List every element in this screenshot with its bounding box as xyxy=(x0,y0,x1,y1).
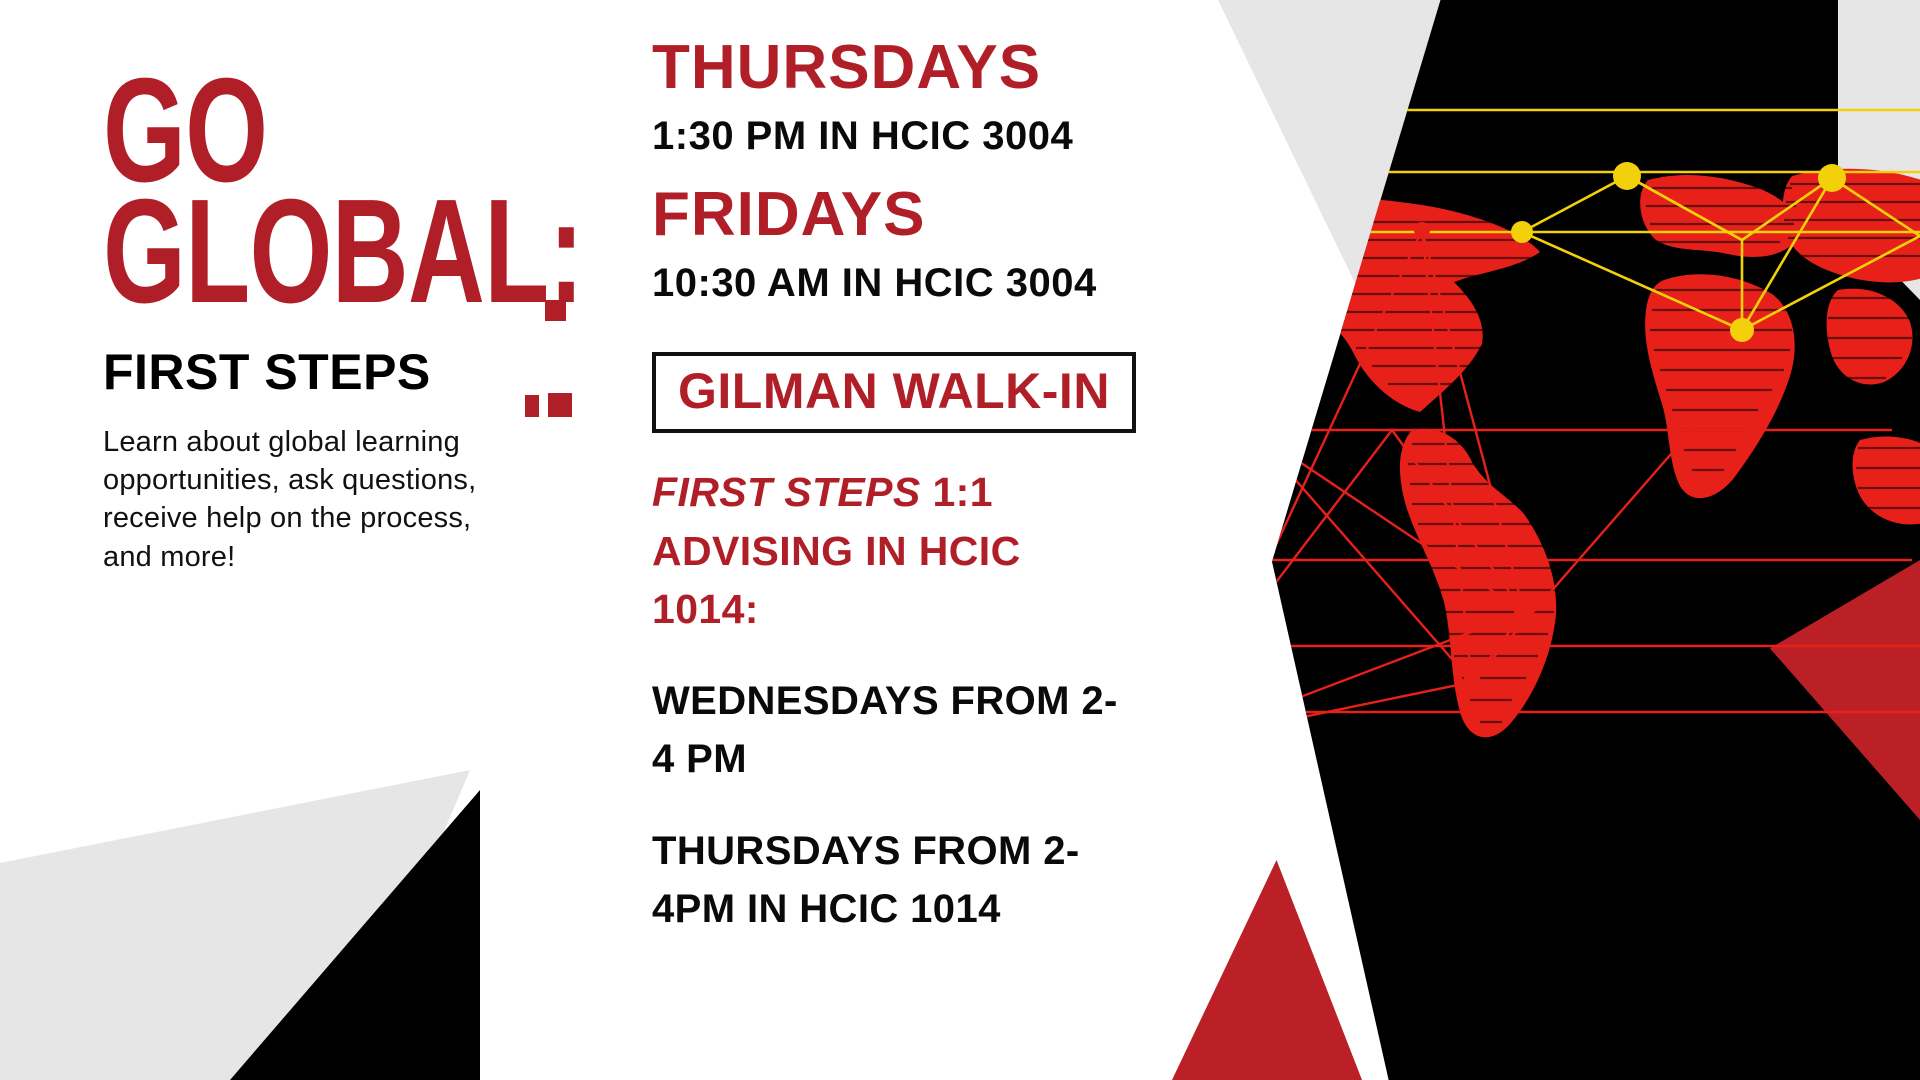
gilman-walk-in-box: GILMAN WALK-IN xyxy=(652,352,1136,433)
advising-slot-thursdays: THURSDAYS FROM 2-4PM IN HCIC 1014 xyxy=(652,822,1122,938)
red-square-accent-1 xyxy=(545,300,566,321)
page-title: GO GLOBAL: xyxy=(103,70,405,313)
advising-heading: FIRST STEPS 1:1 ADVISING IN HCIC 1014: xyxy=(652,463,1122,638)
schedule-day-fridays: FRIDAYS xyxy=(652,183,1172,246)
advising-italic-text: FIRST STEPS xyxy=(652,469,921,515)
gilman-walk-in-label: GILMAN WALK-IN xyxy=(678,363,1110,419)
schedule-column: THURSDAYS 1:30 PM IN HCIC 3004 FRIDAYS 1… xyxy=(652,36,1172,938)
schedule-time-fridays: 10:30 AM IN HCIC 3004 xyxy=(652,262,1172,304)
schedule-day-thursdays: THURSDAYS xyxy=(652,36,1172,99)
left-text-column: GO GLOBAL: FIRST STEPS Learn about globa… xyxy=(103,70,523,576)
world-map-network-graphic xyxy=(1272,0,1920,1080)
red-square-accent-3 xyxy=(548,393,572,417)
red-square-accent-2 xyxy=(525,395,539,417)
poster-canvas: GO GLOBAL: FIRST STEPS Learn about globa… xyxy=(0,0,1920,1080)
headline-line-2: GLOBAL: xyxy=(103,191,405,312)
advising-slot-wednesdays: WEDNESDAYS FROM 2-4 PM xyxy=(652,672,1122,788)
schedule-time-thursdays: 1:30 PM IN HCIC 3004 xyxy=(652,115,1172,157)
page-subtitle: FIRST STEPS xyxy=(103,347,523,397)
right-white-edge-shape xyxy=(1836,0,1920,1080)
description-text: Learn about global learning opportunitie… xyxy=(103,423,495,576)
